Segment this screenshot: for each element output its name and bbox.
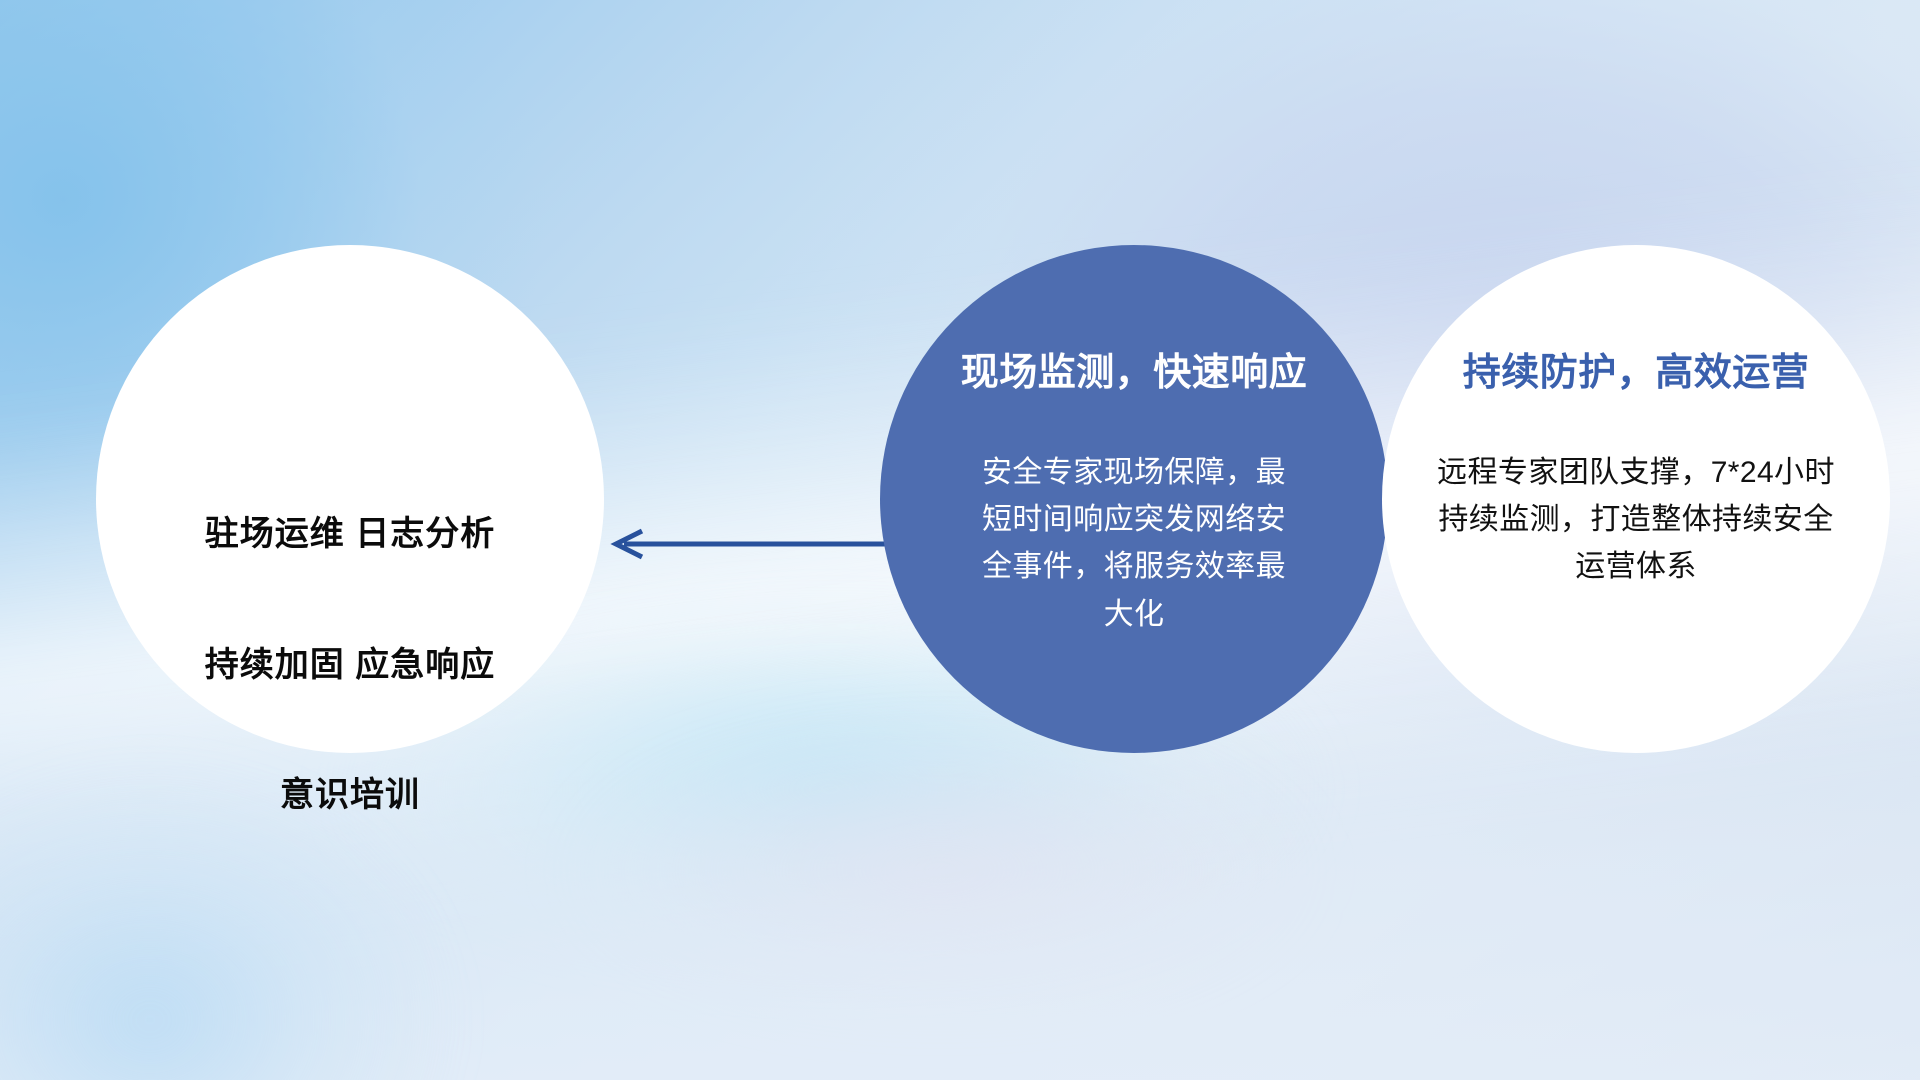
capability-circle-left: 驻场运维 日志分析 持续加固 应急响应 意识培训 (96, 245, 604, 753)
middle-circle-title: 现场监测，快速响应 (961, 351, 1308, 397)
right-circle-title: 持续防护，高效运营 (1463, 351, 1810, 397)
capability-line-1: 驻场运维 日志分析 (205, 502, 495, 567)
capability-circle-right: 持续防护，高效运营 远程专家团队支撑，7*24小时持续监测，打造整体持续安全运营… (1382, 245, 1890, 753)
capability-line-3: 意识培训 (205, 763, 495, 828)
capability-line-2: 持续加固 应急响应 (205, 633, 495, 698)
capability-circle-middle: 现场监测，快速响应 安全专家现场保障，最短时间响应突发网络安全事件，将服务效率最… (880, 245, 1388, 753)
right-circle-description: 远程专家团队支撑，7*24小时持续监测，打造整体持续安全运营体系 (1436, 449, 1836, 591)
slide-canvas: 驻场运维 日志分析 持续加固 应急响应 意识培训 现场监测，快速响应 安全专家现… (0, 0, 1920, 1080)
capability-keyword-list: 驻场运维 日志分析 持续加固 应急响应 意识培训 (205, 437, 495, 894)
middle-circle-description: 安全专家现场保障，最短时间响应突发网络安全事件，将服务效率最大化 (969, 449, 1299, 639)
flow-arrow-left-icon (600, 520, 900, 568)
